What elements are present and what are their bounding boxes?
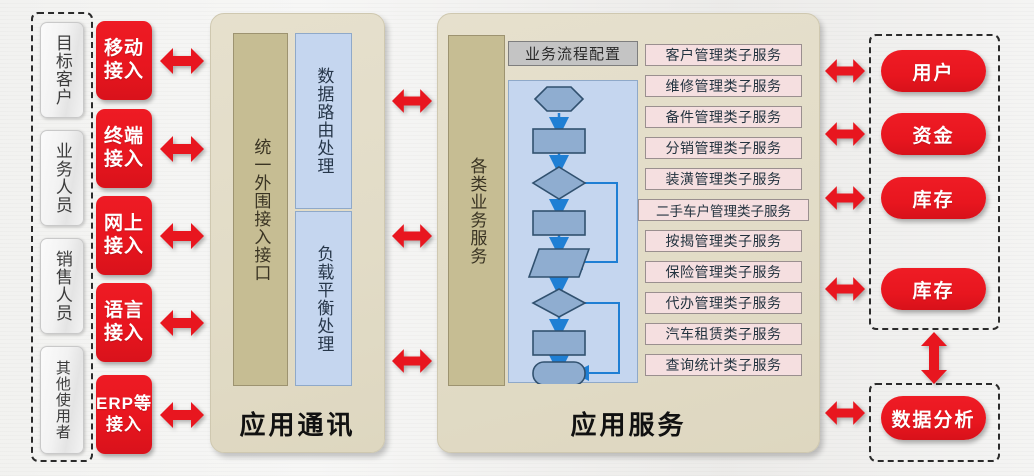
actor-label: 业务人员 [53,142,71,214]
comm-block-label: 负载平衡处理 [315,245,333,353]
resource-badge-inventory-1[interactable]: 库存 [881,177,986,219]
actor-chip-2[interactable]: 销售人员 [40,238,84,334]
access-label-line1: ERP等 [96,394,152,414]
architecture-diagram: 目标客户 业务人员 销售人员 其他使用者 移动 接入 终端 接入 网上 接入 语… [0,0,1034,476]
service-label: 按揭管理类子服务 [666,231,782,251]
bidirectional-arrow-resource-1 [825,118,865,150]
access-button-web[interactable]: 网上 接入 [96,196,152,275]
actor-label: 销售人员 [53,250,71,322]
service-row[interactable]: 维修管理类子服务 [645,75,802,97]
actor-label: 其他使用者 [54,360,70,440]
service-row[interactable]: 按揭管理类子服务 [645,230,802,252]
service-row[interactable]: 查询统计类子服务 [645,354,802,376]
bidirectional-arrow-access-0 [160,44,204,78]
access-label-line2: 接入 [104,236,144,258]
service-label: 二手车户管理类子服务 [656,200,791,220]
bidirectional-arrow-comm-1 [392,220,432,252]
access-label-line1: 语言 [104,300,144,322]
access-button-terminal[interactable]: 终端 接入 [96,109,152,188]
service-row[interactable]: 保险管理类子服务 [645,261,802,283]
bidirectional-arrow-access-2 [160,219,204,253]
panel-title: 应用通讯 [211,405,384,442]
resource-label: 库存 [912,185,954,212]
service-label: 保险管理类子服务 [666,262,782,282]
actor-chip-0[interactable]: 目标客户 [40,22,84,118]
flowchart-canvas [508,80,638,383]
access-button-mobile[interactable]: 移动 接入 [96,21,152,100]
comm-block-label: 数据路由处理 [315,67,333,175]
service-row[interactable]: 分销管理类子服务 [645,137,802,159]
access-label-line2: 接入 [104,61,144,83]
panel-title: 应用服务 [438,405,819,442]
access-label-line2: 接入 [106,415,142,435]
bidirectional-arrow-access-1 [160,132,204,166]
service-label: 客户管理类子服务 [666,45,782,65]
flow-config-header-label: 业务流程配置 [525,43,621,64]
resource-badge-data-analysis[interactable]: 数据分析 [881,396,986,440]
resource-label: 用户 [912,58,954,85]
service-row[interactable]: 汽车租赁类子服务 [645,323,802,345]
service-row[interactable]: 客户管理类子服务 [645,44,802,66]
bidirectional-arrow-resource-0 [825,55,865,87]
bidirectional-arrow-vertical [917,332,951,384]
access-label-line2: 接入 [104,323,144,345]
service-label: 分销管理类子服务 [666,138,782,158]
flowchart-svg [509,81,639,384]
flow-config-header[interactable]: 业务流程配置 [508,41,638,66]
service-label: 备件管理类子服务 [666,107,782,127]
actor-chip-3[interactable]: 其他使用者 [40,346,84,454]
resource-badge-funds[interactable]: 资金 [881,113,986,155]
actor-chip-1[interactable]: 业务人员 [40,130,84,226]
service-side-label-box: 各类业务服务 [448,35,505,386]
access-label-line1: 网上 [104,213,144,235]
comm-block-load-balance[interactable]: 负载平衡处理 [295,211,352,386]
access-label-line2: 接入 [104,149,144,171]
resource-label: 数据分析 [891,405,975,432]
bidirectional-arrow-resource-4 [825,397,865,429]
resource-badge-user[interactable]: 用户 [881,50,986,92]
comm-side-label: 统一外围接入接口 [252,138,270,282]
service-row[interactable]: 二手车户管理类子服务 [638,199,809,221]
service-label: 代办管理类子服务 [666,293,782,313]
service-label: 汽车租赁类子服务 [666,324,782,344]
access-label-line1: 移动 [104,38,144,60]
access-label-line1: 终端 [104,126,144,148]
bidirectional-arrow-resource-2 [825,182,865,214]
bidirectional-arrow-resource-3 [825,273,865,305]
actor-label: 目标客户 [53,34,71,106]
service-row[interactable]: 装潢管理类子服务 [645,168,802,190]
service-row[interactable]: 备件管理类子服务 [645,106,802,128]
service-row[interactable]: 代办管理类子服务 [645,292,802,314]
resource-label: 资金 [912,121,954,148]
service-label: 查询统计类子服务 [666,355,782,375]
service-label: 装潢管理类子服务 [666,169,782,189]
bidirectional-arrow-access-3 [160,306,204,340]
resource-label: 库存 [912,276,954,303]
resource-badge-inventory-2[interactable]: 库存 [881,268,986,310]
comm-side-label-box: 统一外围接入接口 [233,33,288,386]
service-label: 维修管理类子服务 [666,76,782,96]
service-side-label: 各类业务服务 [468,157,486,265]
access-button-erp[interactable]: ERP等 接入 [96,375,152,454]
access-button-voice[interactable]: 语言 接入 [96,283,152,362]
comm-block-data-routing[interactable]: 数据路由处理 [295,33,352,209]
bidirectional-arrow-access-4 [160,398,204,432]
bidirectional-arrow-comm-0 [392,85,432,117]
bidirectional-arrow-comm-2 [392,345,432,377]
